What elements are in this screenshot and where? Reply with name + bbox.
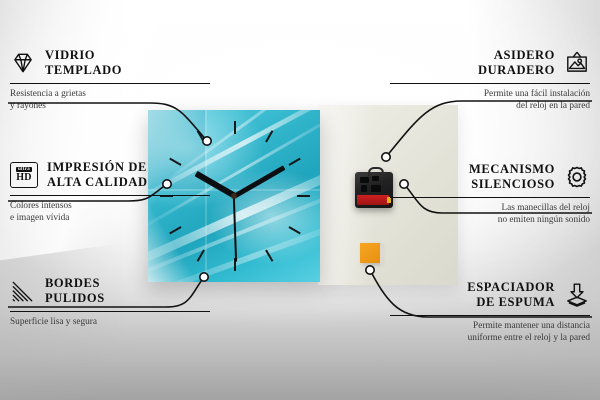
clock-center-hub — [231, 193, 237, 199]
feature-header: BORDES PULIDOS — [10, 276, 210, 306]
diamond-icon — [10, 50, 36, 76]
infographic-poster: VIDRIO TEMPLADO Resistencia a grietas y … — [0, 0, 600, 400]
quartz-movement — [355, 172, 393, 208]
feature-title: MECANISMO SILENCIOSO — [469, 162, 555, 192]
feature-header: ESPACIADOR DE ESPUMA — [390, 280, 590, 310]
feature-description: Las manecillas del reloj no emiten ningú… — [390, 202, 590, 227]
feature-mecanismo-silencioso: MECANISMO SILENCIOSO Las manecillas del … — [390, 162, 590, 226]
movement-battery — [357, 195, 389, 205]
feature-title: IMPRESIÓN DE ALTA CALIDAD — [47, 160, 148, 190]
feature-impresion-alta-calidad: ultra HD IMPRESIÓN DE ALTA CALIDAD Color… — [10, 160, 210, 224]
feature-divider — [390, 315, 590, 316]
feature-header: ASIDERO DURADERO — [390, 48, 590, 78]
feature-description: Resistencia a grietas y rayones — [10, 88, 210, 113]
clock-tick — [234, 121, 236, 134]
feature-header: MECANISMO SILENCIOSO — [390, 162, 590, 192]
feature-description: Colores intensos e imagen vívida — [10, 200, 210, 225]
feature-title: ASIDERO DURADERO — [478, 48, 555, 78]
feature-title: VIDRIO TEMPLADO — [45, 48, 122, 78]
movement-detail — [372, 176, 379, 181]
feature-divider — [390, 197, 590, 198]
feature-description: Permite una fácil instalación del reloj … — [390, 88, 590, 113]
picture-hanger-icon — [564, 50, 590, 76]
feature-header: VIDRIO TEMPLADO — [10, 48, 210, 78]
foam-spacer-arrow-icon — [564, 282, 590, 308]
feature-divider — [390, 83, 590, 84]
clock-tick — [288, 158, 300, 166]
feature-header: ultra HD IMPRESIÓN DE ALTA CALIDAD — [10, 160, 210, 190]
feature-vidrio-templado: VIDRIO TEMPLADO Resistencia a grietas y … — [10, 48, 210, 112]
ultra-hd-badge-icon: ultra HD — [10, 162, 38, 188]
feature-description: Superficie lisa y segura — [10, 316, 210, 328]
polished-edges-icon — [10, 278, 36, 304]
feature-title: ESPACIADOR DE ESPUMA — [467, 280, 555, 310]
feature-divider — [10, 195, 210, 196]
clock-second-hand — [233, 196, 237, 262]
foam-spacer — [360, 243, 380, 263]
clock-tick — [288, 226, 300, 234]
clock-tick — [170, 226, 182, 234]
movement-detail — [371, 185, 381, 192]
movement-detail — [360, 177, 369, 183]
clock-tick — [297, 195, 310, 197]
gear-icon — [564, 164, 590, 190]
feature-title: BORDES PULIDOS — [45, 276, 105, 306]
feature-divider — [10, 311, 210, 312]
movement-detail — [361, 185, 367, 192]
feature-asidero-duradero: ASIDERO DURADERO Permite una fácil insta… — [390, 48, 590, 112]
feature-description: Permite mantener una distancia uniforme … — [390, 320, 590, 345]
feature-bordes-pulidos: BORDES PULIDOS Superficie lisa y segura — [10, 276, 210, 328]
feature-divider — [10, 83, 210, 84]
feature-espaciador-de-espuma: ESPACIADOR DE ESPUMA Permite mantener un… — [390, 280, 590, 344]
